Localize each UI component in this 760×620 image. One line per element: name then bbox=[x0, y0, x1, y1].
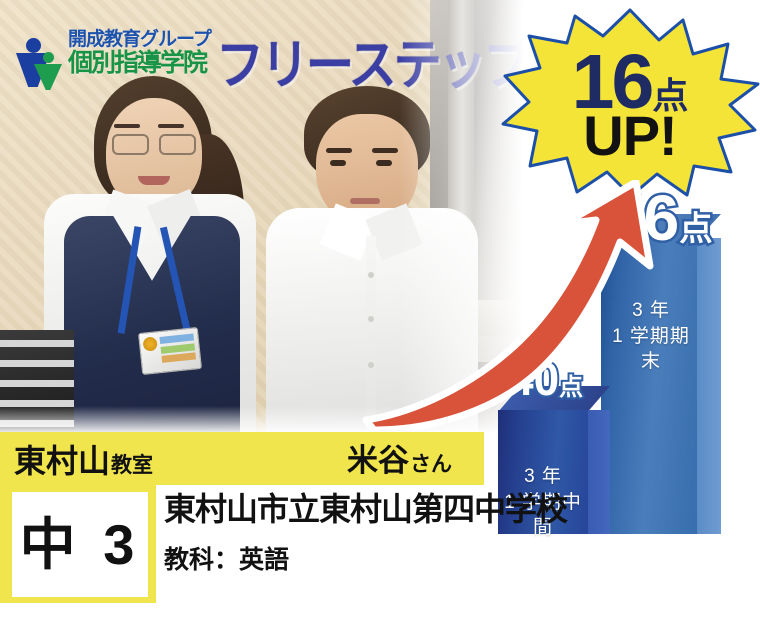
student-info-panel: 東村山 教室 米谷 さん 中 3 東村山市立東村山第四中学校 教科：英語 bbox=[0, 432, 484, 620]
grade-text: 中 3 bbox=[20, 517, 141, 573]
result-banner: 開成教育グループ 個別指導学院 フリーステップ bbox=[0, 0, 760, 620]
score-up-badge: 16 点 UP! bbox=[497, 6, 760, 198]
classroom-name: 東村山 bbox=[14, 436, 110, 482]
starburst-shape bbox=[497, 6, 760, 198]
classroom-label: 東村山 教室 bbox=[14, 436, 153, 482]
school-name: 東村山市立東村山第四中学校 bbox=[164, 492, 484, 527]
growth-arrow-icon bbox=[358, 180, 668, 430]
subject-label: 教科：英語 bbox=[164, 540, 289, 576]
student-label: 米谷 さん bbox=[347, 435, 452, 480]
student-suffix: さん bbox=[410, 448, 452, 478]
info-bottom-strip bbox=[0, 603, 484, 620]
student-name: 米谷 bbox=[347, 435, 409, 480]
grade-badge: 中 3 bbox=[12, 492, 148, 597]
info-header-row: 東村山 教室 米谷 さん bbox=[0, 432, 484, 485]
classroom-suffix: 教室 bbox=[111, 449, 153, 479]
